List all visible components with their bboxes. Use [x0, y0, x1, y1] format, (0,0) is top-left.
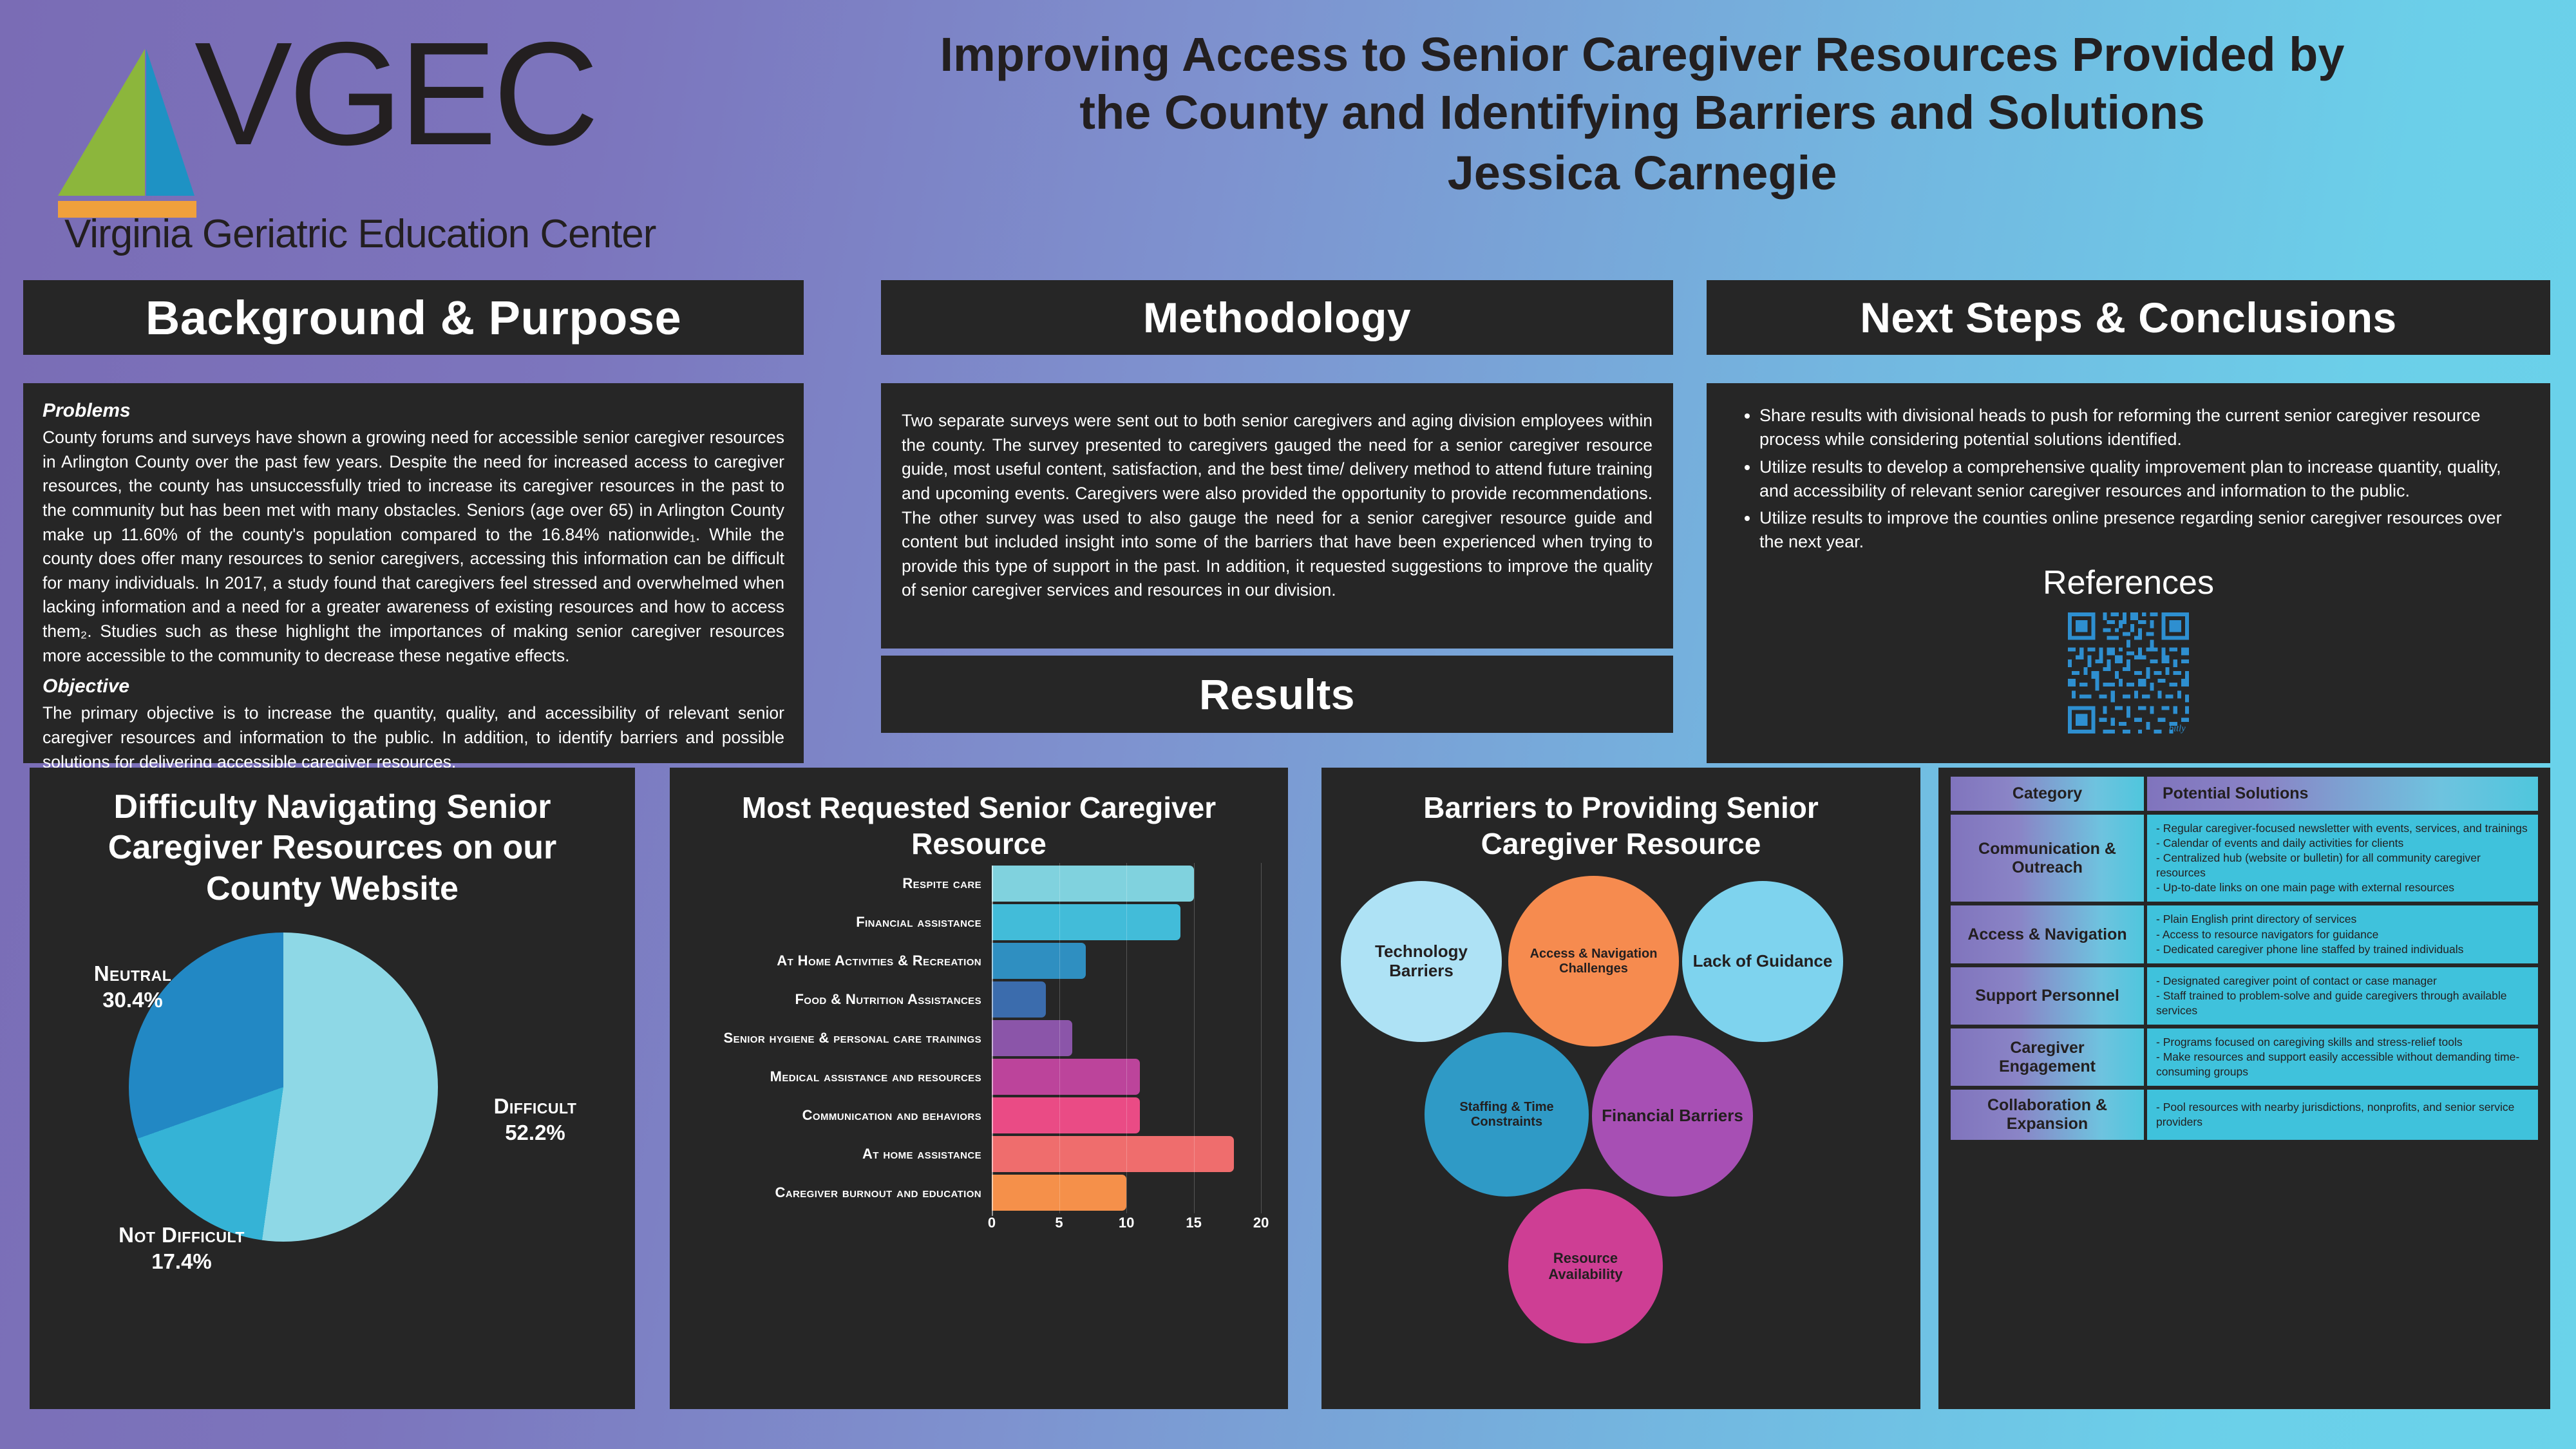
logo-wordmark: VGEC	[194, 21, 595, 167]
bar-track	[992, 943, 1288, 979]
solution-line: - Access to resource navigators for guid…	[2156, 927, 2529, 942]
bar-fill	[992, 943, 1086, 979]
bar-x-tick: 5	[1055, 1215, 1063, 1231]
table-header-potential-solutions: Potential Solutions	[2147, 777, 2538, 811]
poster-title-line-2: the County and Identifying Barriers and …	[734, 84, 2550, 142]
logo-tagline: Virginia Geriatric Education Center	[64, 211, 656, 257]
section-header-results: Results	[881, 656, 1673, 733]
bubble-lack-of-guidance[interactable]: Lack of Guidance	[1682, 881, 1843, 1042]
section-header-next-steps-label: Next Steps & Conclusions	[1860, 293, 2397, 342]
bar-chart-rows: Respite careFinancial assistanceAt Home …	[670, 866, 1288, 1211]
table-cell-solutions: - Pool resources with nearby jurisdictio…	[2147, 1090, 2538, 1140]
bar-category-label: Caregiver burnout and education	[670, 1184, 992, 1201]
solutions-table-row: Caregiver Engagement- Programs focused o…	[1951, 1028, 2538, 1086]
solutions-table-row: Support Personnel- Designated caregiver …	[1951, 967, 2538, 1025]
objective-subheading: Objective	[43, 676, 784, 697]
table-cell-category: Caregiver Engagement	[1951, 1028, 2144, 1086]
section-header-background: Background & Purpose	[23, 280, 804, 355]
bar-track	[992, 1097, 1288, 1133]
table-cell-solutions: - Designated caregiver point of contact …	[2147, 967, 2538, 1025]
section-header-background-label: Background & Purpose	[146, 290, 681, 345]
qr-caption: bitly	[2169, 723, 2186, 734]
next-steps-bullet: Utilize results to develop a comprehensi…	[1759, 455, 2527, 504]
problems-subheading: Problems	[43, 400, 784, 422]
table-cell-category: Access & Navigation	[1951, 905, 2144, 963]
bar-chart-y-axis	[992, 866, 993, 1216]
bar-category-label: At home assistance	[670, 1146, 992, 1162]
pie-slice-label-difficult: Difficult 52.2%	[455, 1094, 616, 1146]
section-header-results-label: Results	[1199, 670, 1355, 719]
bar-chart-row: Senior hygiene & personal care trainings	[670, 1020, 1288, 1056]
green-sail-shape	[58, 49, 145, 196]
bar-x-tick: 0	[988, 1215, 996, 1231]
blue-sail-shape	[146, 49, 194, 196]
section-header-methodology-label: Methodology	[1143, 293, 1411, 342]
section-header-methodology: Methodology	[881, 280, 1673, 355]
bar-x-tick: 20	[1253, 1215, 1269, 1231]
poster-title-line-1: Improving Access to Senior Caregiver Res…	[734, 26, 2550, 84]
bar-gridline	[1126, 863, 1127, 1213]
table-cell-category: Communication & Outreach	[1951, 815, 2144, 902]
bubble-staffing-time-constraints[interactable]: Staffing & Time Constraints	[1425, 1032, 1589, 1197]
bubble-access-navigation-challenges[interactable]: Access & Navigation Challenges	[1508, 876, 1679, 1046]
bar-track	[992, 1059, 1288, 1095]
bar-fill	[992, 1136, 1234, 1172]
bar-chart-row: Respite care	[670, 866, 1288, 902]
bar-fill	[992, 981, 1046, 1018]
solution-line: - Plain English print directory of servi…	[2156, 912, 2529, 927]
table-cell-solutions: - Plain English print directory of servi…	[2147, 905, 2538, 963]
next-steps-bullet-list: Share results with divisional heads to p…	[1730, 404, 2527, 554]
bar-track	[992, 1136, 1288, 1172]
bubble-technology-barriers[interactable]: Technology Barriers	[1341, 881, 1502, 1042]
bar-gridline	[1194, 863, 1195, 1213]
bubble-chart-panel: Barriers to Providing Senior Caregiver R…	[1321, 768, 1920, 1409]
solution-line: - Staff trained to problem-solve and gui…	[2156, 989, 2529, 1018]
bar-category-label: Financial assistance	[670, 914, 992, 931]
solution-line: - Up-to-date links on one main page with…	[2156, 880, 2529, 895]
vgec-logo: VGEC Virginia Geriatric Education Center	[52, 18, 708, 269]
bar-category-label: Senior hygiene & personal care trainings	[670, 1030, 992, 1046]
bar-track	[992, 866, 1288, 902]
bubble-chart-title: Barriers to Providing Senior Caregiver R…	[1321, 768, 1920, 862]
bar-track	[992, 1020, 1288, 1056]
bar-track	[992, 981, 1288, 1018]
objective-paragraph: The primary objective is to increase the…	[43, 701, 784, 774]
solution-line: - Calendar of events and daily activitie…	[2156, 836, 2529, 851]
solution-line: - Designated caregiver point of contact …	[2156, 974, 2529, 989]
bar-category-label: At Home Activities & Recreation	[670, 952, 992, 969]
bar-x-tick: 10	[1119, 1215, 1134, 1231]
solutions-table-panel: CategoryPotential SolutionsCommunication…	[1938, 768, 2550, 1409]
bar-category-label: Respite care	[670, 875, 992, 892]
solution-line: - Pool resources with nearby jurisdictio…	[2156, 1100, 2529, 1130]
bar-chart-row: Medical assistance and resources	[670, 1059, 1288, 1095]
solution-line: - Regular caregiver-focused newsletter w…	[2156, 821, 2529, 836]
next-steps-bullet: Utilize results to improve the counties …	[1759, 506, 2527, 554]
bar-gridline	[1261, 863, 1262, 1213]
section-header-next-steps: Next Steps & Conclusions	[1707, 280, 2550, 355]
bar-fill	[992, 1059, 1140, 1095]
pie-chart-title: Difficulty Navigating Senior Caregiver R…	[30, 768, 635, 909]
pie-slice-label-not-difficult: Not Difficult 17.4%	[85, 1222, 278, 1274]
solution-line: - Make resources and support easily acce…	[2156, 1050, 2529, 1079]
problems-paragraph: County forums and surveys have shown a g…	[43, 426, 784, 668]
bar-fill	[992, 1097, 1140, 1133]
solutions-table-row: Collaboration & Expansion- Pool resource…	[1951, 1090, 2538, 1140]
solutions-table-row: Communication & Outreach- Regular caregi…	[1951, 815, 2538, 902]
background-purpose-panel: Problems County forums and surveys have …	[23, 383, 804, 763]
bar-chart-row: Communication and behaviors	[670, 1097, 1288, 1133]
qr-code-icon[interactable]: bitly	[2064, 609, 2193, 737]
bar-gridline	[1059, 863, 1060, 1213]
pie-chart-panel: Difficulty Navigating Senior Caregiver R…	[30, 768, 635, 1409]
poster-title-block: Improving Access to Senior Caregiver Res…	[734, 26, 2550, 204]
poster-author: Jessica Carnegie	[734, 142, 2550, 204]
table-cell-category: Collaboration & Expansion	[1951, 1090, 2144, 1140]
bar-fill	[992, 866, 1194, 902]
bar-chart-panel: Most Requested Senior Caregiver Resource…	[670, 768, 1288, 1409]
solution-line: - Programs focused on caregiving skills …	[2156, 1035, 2529, 1050]
bar-chart-x-axis: 05101520	[992, 1213, 1288, 1238]
pie-slice-label-neutral: Neutral 30.4%	[49, 961, 216, 1013]
bar-fill	[992, 904, 1180, 940]
methodology-panel: Two separate surveys were sent out to bo…	[881, 383, 1673, 649]
bubble-resource-availability[interactable]: Resource Availability	[1508, 1189, 1663, 1343]
bar-chart-row: At Home Activities & Recreation	[670, 943, 1288, 979]
table-cell-category: Support Personnel	[1951, 967, 2144, 1025]
next-steps-panel: Share results with divisional heads to p…	[1707, 383, 2550, 763]
solutions-table-row: Access & Navigation- Plain English print…	[1951, 905, 2538, 963]
bubble-financial-barriers[interactable]: Financial Barriers	[1592, 1036, 1753, 1197]
solution-line: - Dedicated caregiver phone line staffed…	[2156, 942, 2529, 957]
references-heading: References	[1730, 563, 2527, 602]
methodology-paragraph: Two separate surveys were sent out to bo…	[902, 409, 1653, 603]
solution-line: - Centralized hub (website or bulletin) …	[2156, 851, 2529, 880]
bar-category-label: Communication and behaviors	[670, 1107, 992, 1124]
bar-category-label: Food & Nutrition Assistances	[670, 991, 992, 1008]
bar-category-label: Medical assistance and resources	[670, 1068, 992, 1085]
next-steps-bullet: Share results with divisional heads to p…	[1759, 404, 2527, 452]
bar-chart-row: Financial assistance	[670, 904, 1288, 940]
bar-x-tick: 15	[1186, 1215, 1201, 1231]
table-cell-solutions: - Programs focused on caregiving skills …	[2147, 1028, 2538, 1086]
bar-chart-row: Food & Nutrition Assistances	[670, 981, 1288, 1018]
bar-fill	[992, 1020, 1072, 1056]
bar-chart-row: Caregiver burnout and education	[670, 1175, 1288, 1211]
bubble-chart-graphic: Technology BarriersAccess & Navigation C…	[1321, 862, 1920, 1377]
table-header-category: Category	[1951, 777, 2144, 811]
bar-track	[992, 1175, 1288, 1211]
solutions-table-header-row: CategoryPotential Solutions	[1951, 777, 2538, 811]
table-cell-solutions: - Regular caregiver-focused newsletter w…	[2147, 815, 2538, 902]
bar-chart-title: Most Requested Senior Caregiver Resource	[670, 768, 1288, 862]
solutions-table: CategoryPotential SolutionsCommunication…	[1947, 773, 2541, 1144]
bar-track	[992, 904, 1288, 940]
bar-chart-row: At home assistance	[670, 1136, 1288, 1172]
